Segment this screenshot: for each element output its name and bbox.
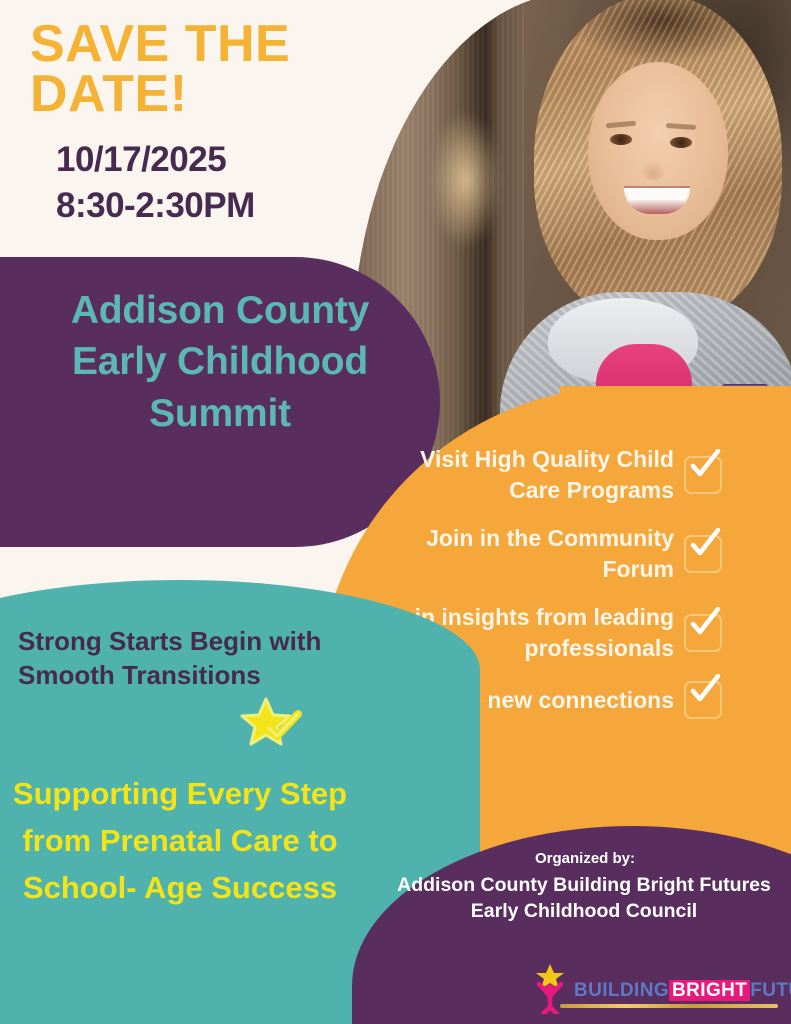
logo-word-building: BUILDING [574,980,669,1001]
organized-by-label: Organized by: [390,850,780,869]
child-teeth [628,189,686,200]
flyer-poster: SAVE THE DATE! 10/17/2025 8:30-2:30PM Ad… [0,0,791,1024]
logo-word-bright: BRIGHT [669,980,750,1001]
child-nose [640,160,666,180]
benefit-item: Join in the Community Forum [380,523,722,584]
checkbox-checked-icon[interactable] [684,535,722,573]
summit-title: Addison County Early Childhood Summit [20,285,420,439]
theme-subheading: Supporting Every Step from Prenatal Care… [0,770,360,911]
sun-highlight [430,110,502,250]
event-date: 10/17/2025 [56,140,226,179]
child-eye-left [610,134,632,145]
organization-name: Addison County Building Bright Futures E… [374,872,791,924]
save-the-date-heading: SAVE THE DATE! [30,20,360,120]
checkbox-checked-icon[interactable] [684,681,722,719]
bbf-logo: BUILDINGBRIGHTFUTURES [528,962,778,1020]
logo-underline [560,1004,778,1008]
event-time: 8:30-2:30PM [56,186,255,225]
benefit-item: Visit High Quality Child Care Programs [380,444,722,505]
logo-wordmark: BUILDINGBRIGHTFUTURES [574,980,791,1002]
checkbox-checked-icon[interactable] [684,614,722,652]
child-eye-right [670,137,692,148]
theme-heading: Strong Starts Begin with Smooth Transiti… [18,624,348,693]
star-check-icon [240,695,306,753]
checkbox-checked-icon[interactable] [684,456,722,494]
title-panel: Addison County Early Childhood Summit [0,257,440,547]
benefit-label: Visit High Quality Child Care Programs [380,444,674,505]
benefit-label: Join in the Community Forum [380,523,674,584]
logo-word-futures: FUTURES [750,980,791,1001]
